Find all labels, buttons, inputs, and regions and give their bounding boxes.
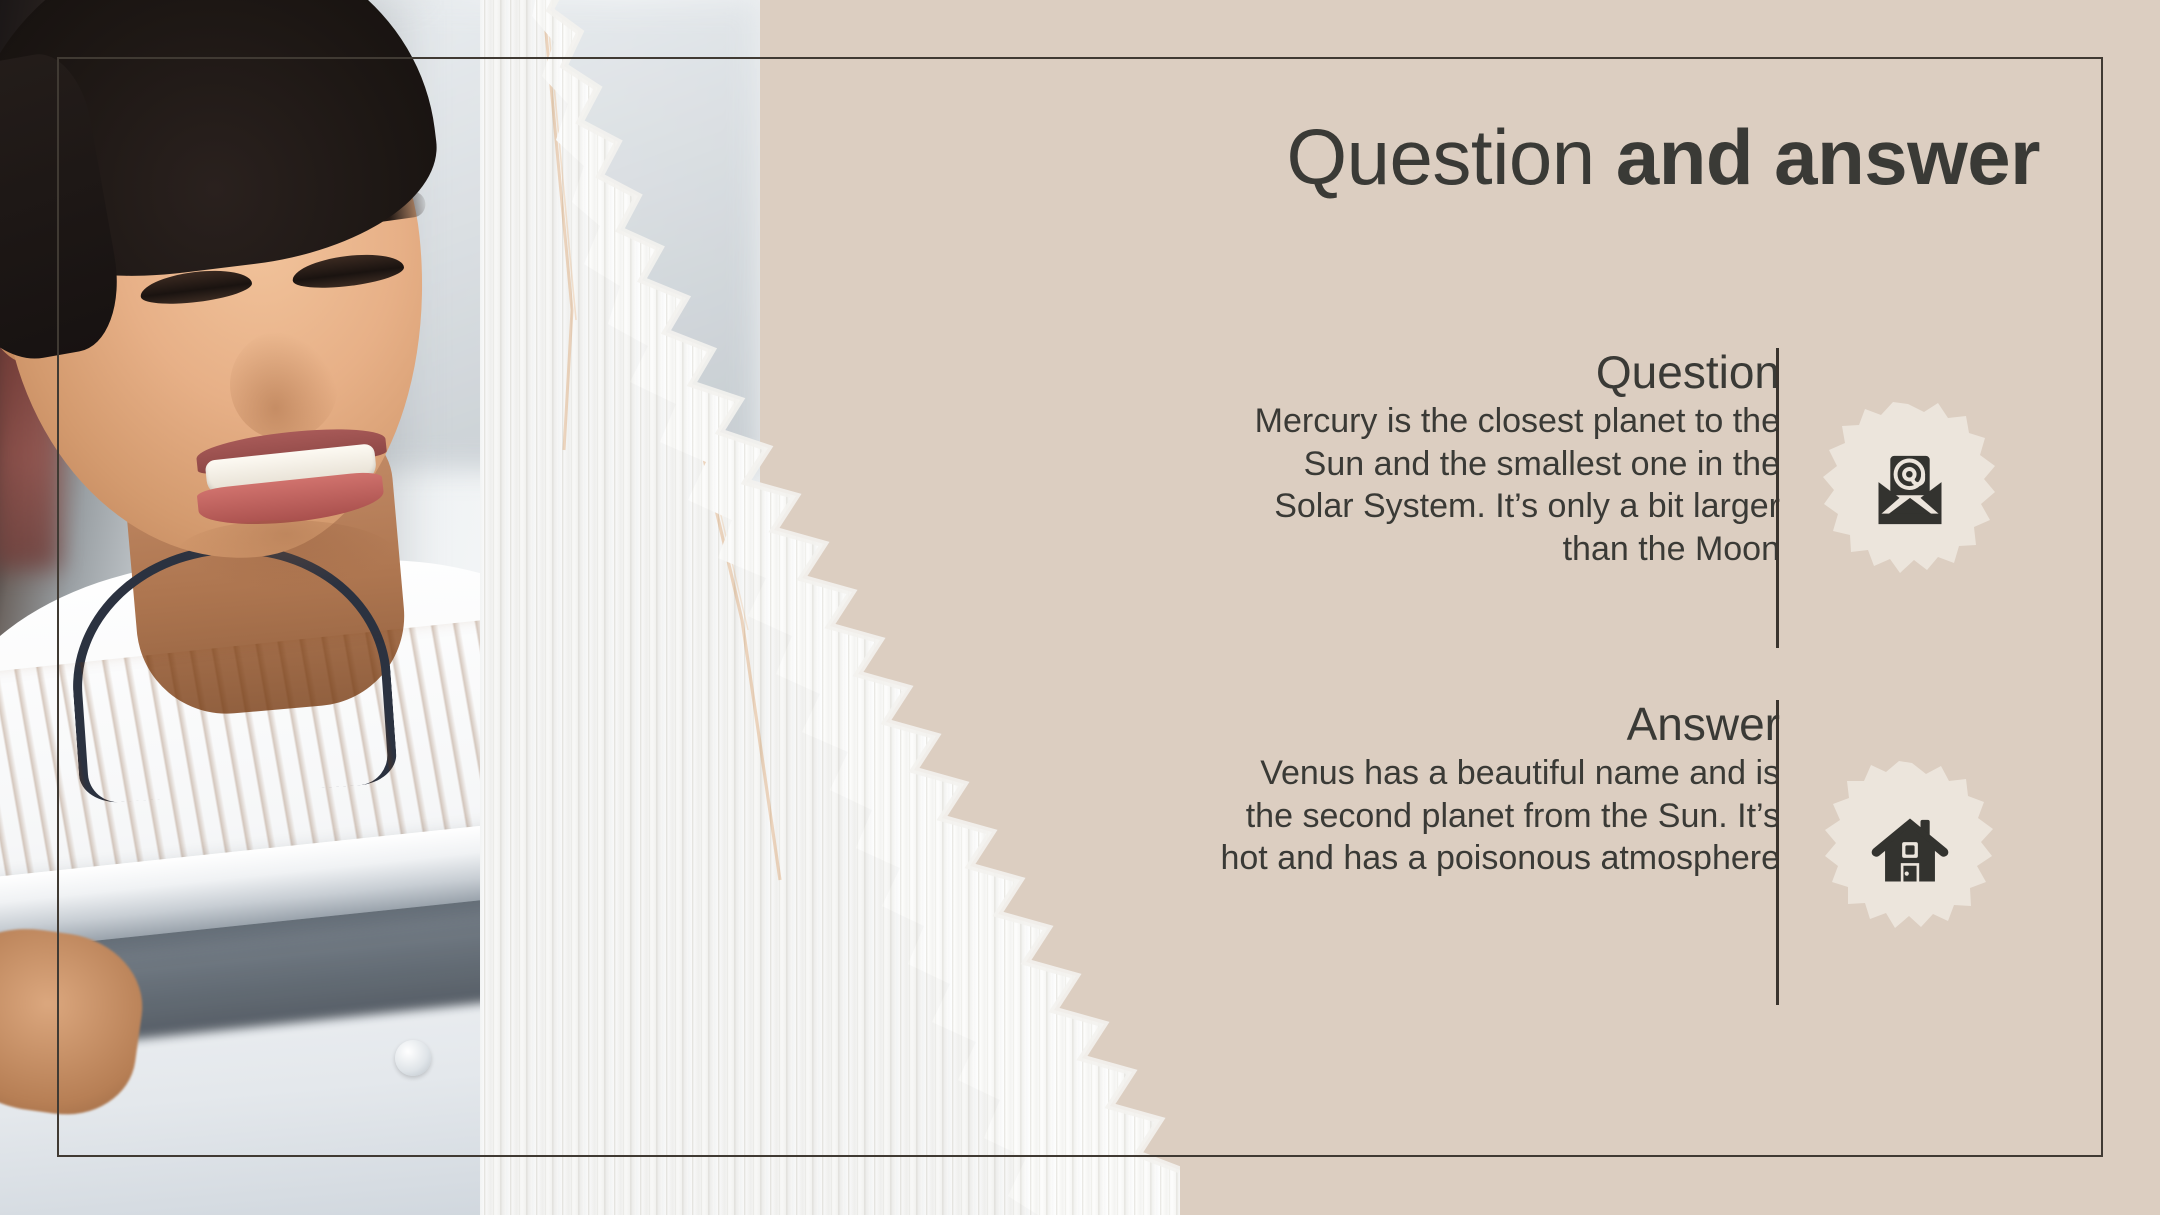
slide-canvas: Question and answer Question Mercury is … xyxy=(0,0,2160,1215)
email-envelope-icon xyxy=(1868,448,1952,532)
question-block: Question Mercury is the closest planet t… xyxy=(1190,348,1780,648)
question-divider-line xyxy=(1776,348,1779,648)
question-icon-badge xyxy=(1820,400,2000,580)
answer-divider-line xyxy=(1776,700,1779,1005)
answer-body: Venus has a beautiful name and is the se… xyxy=(1220,752,1780,880)
title-bold-part: and answer xyxy=(1616,113,2040,201)
question-heading: Question xyxy=(1220,348,1780,398)
home-house-icon xyxy=(1868,808,1952,892)
answer-heading: Answer xyxy=(1220,700,1780,750)
answer-text-group: Answer Venus has a beautiful name and is… xyxy=(1220,700,1780,880)
content-area: Question and answer Question Mercury is … xyxy=(0,0,2160,1215)
page-title: Question and answer xyxy=(980,118,2040,198)
title-light-part: Question xyxy=(1286,113,1594,201)
answer-icon-badge xyxy=(1820,760,2000,940)
question-text-group: Question Mercury is the closest planet t… xyxy=(1220,348,1780,571)
answer-block: Answer Venus has a beautiful name and is… xyxy=(1190,700,1780,1005)
question-body: Mercury is the closest planet to the Sun… xyxy=(1220,400,1780,571)
